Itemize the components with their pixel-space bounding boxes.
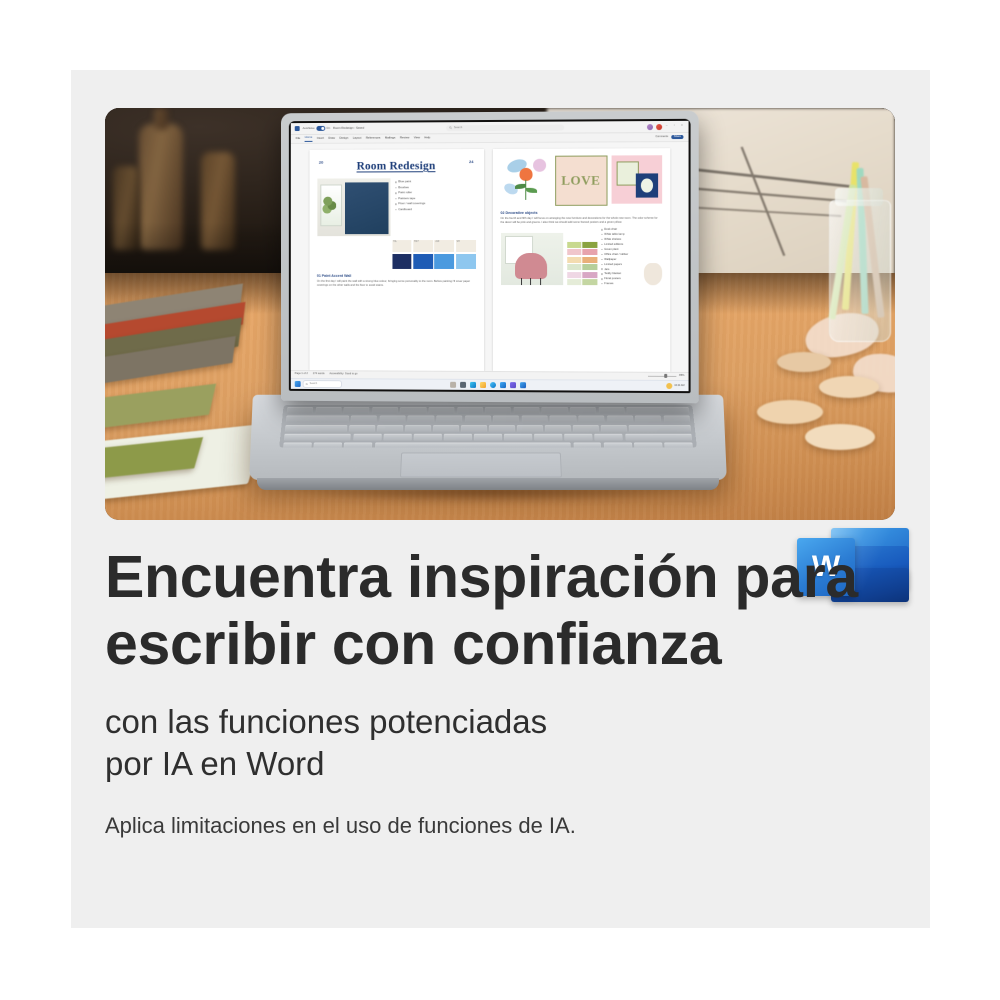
word-search-placeholder: Search	[454, 126, 462, 129]
close-button[interactable]: ×	[679, 124, 684, 129]
autosave-state: On	[326, 127, 330, 130]
vase-shape	[643, 263, 661, 285]
search-icon	[449, 126, 452, 129]
autosave-switch[interactable]	[316, 126, 325, 131]
avatar[interactable]	[647, 124, 653, 130]
disclaimer-text: Aplica limitaciones en el uso de funcion…	[105, 811, 905, 841]
ribbon-tab-review[interactable]: Review	[400, 137, 409, 140]
list-item: Brushes	[398, 186, 409, 189]
windows-start-icon[interactable]	[295, 381, 301, 387]
list-item: Office chair / rubber	[604, 253, 628, 256]
list-item: Wallpaper	[604, 258, 616, 261]
word-count[interactable]: 174 words	[313, 373, 325, 376]
widgets-icon[interactable]	[460, 382, 466, 388]
list-item: Frames	[604, 282, 613, 285]
swatch-color	[456, 254, 476, 269]
ribbon-tab-home[interactable]: Home	[305, 136, 313, 141]
status-bar-right: 85%	[648, 375, 685, 378]
jar-body	[829, 200, 891, 342]
outlook-icon[interactable]	[500, 382, 506, 388]
maximize-button[interactable]: ▫	[672, 124, 677, 129]
laptop-base-edge	[257, 478, 719, 490]
search-icon	[306, 383, 309, 386]
ribbon-tab-mailings[interactable]: Mailings	[385, 137, 396, 140]
love-artwork: LOVE	[555, 155, 607, 205]
chair-photo	[500, 233, 562, 285]
folder-icon[interactable]	[480, 382, 486, 388]
bottle-icon	[113, 166, 139, 250]
text-block: Encuentra inspiración para escribir con …	[105, 544, 905, 841]
list-item: White table lamp	[604, 233, 624, 236]
laptop-trackpad[interactable]	[400, 452, 562, 477]
zoom-level[interactable]: 85%	[679, 375, 684, 378]
photo-scene: AutoSave On Room Redesign - Saved	[105, 108, 895, 520]
ribbon-tab-insert[interactable]: Insert	[317, 137, 324, 140]
ribbon-tab-references[interactable]: References	[366, 137, 381, 140]
word-application: AutoSave On Room Redesign - Saved	[291, 121, 689, 391]
ribbon-tab-help[interactable]: Help	[424, 137, 430, 140]
promo-page: AutoSave On Room Redesign - Saved	[0, 0, 1000, 1000]
comments-button[interactable]: Comments	[655, 136, 668, 139]
paper-circle	[777, 352, 831, 372]
zoom-slider[interactable]	[648, 376, 676, 377]
promo-card: AutoSave On Room Redesign - Saved	[71, 70, 930, 928]
materials-list: Blue paint Brushes Paint roller Painters…	[395, 178, 476, 236]
taskbar-clock[interactable]: 10:24 AM	[674, 385, 684, 388]
list-item: Paint roller	[398, 192, 412, 195]
accessibility-status[interactable]: Accessibility: Good to go	[329, 373, 357, 376]
tulip-artwork	[500, 156, 550, 204]
document-page-right: LOVE 02 Decorative objects On the fourth…	[492, 148, 669, 372]
section-heading-02: 02 Decorative objects	[500, 211, 661, 215]
hero-photo: AutoSave On Room Redesign - Saved	[105, 108, 895, 520]
taskbar-left: Search	[295, 380, 342, 388]
list-item: Green plant	[604, 248, 618, 251]
laptop-screen: AutoSave On Room Redesign - Saved	[289, 119, 691, 393]
edge-browser-icon[interactable]	[470, 382, 476, 388]
accent-wall	[344, 183, 388, 235]
word-search-box[interactable]: Search	[446, 124, 564, 131]
minimize-button[interactable]: –	[664, 124, 669, 129]
ribbon-tab-layout[interactable]: Layout	[353, 137, 362, 140]
avatar[interactable]	[656, 124, 662, 130]
list-item: Painters tape	[398, 197, 415, 200]
room-body: Blue paint Brushes Paint roller Painters…	[317, 178, 476, 236]
taskbar-search-placeholder: Search	[310, 383, 317, 386]
title-bar-right: – ▫ ×	[647, 123, 685, 129]
list-item: Jars	[604, 268, 609, 271]
color-swatches: 70L 55/7 22F 9H	[392, 240, 476, 268]
title-row: 20 Room Redesign 24	[317, 156, 476, 173]
swatch-color	[392, 254, 412, 269]
list-item: Floral posters	[604, 277, 620, 280]
frames-artwork	[611, 155, 662, 203]
year-suffix: 24	[469, 160, 473, 165]
autosave-toggle[interactable]: AutoSave On	[303, 126, 330, 131]
ribbon-tab-draw[interactable]: Draw	[328, 137, 335, 140]
ribbon-tab-file[interactable]: File	[296, 137, 301, 140]
paper-circle	[819, 376, 879, 398]
objects-list: Desk chair White table lamp White shelve…	[601, 228, 639, 285]
store-icon[interactable]	[510, 382, 516, 388]
swatch-label: 55/7	[413, 240, 433, 252]
windows-taskbar: Search	[291, 378, 689, 391]
pencil-jar	[823, 162, 895, 340]
room-photo	[317, 179, 390, 237]
share-button[interactable]: Share	[671, 135, 683, 139]
word-icon[interactable]	[520, 382, 526, 388]
list-item: Blue paint	[398, 181, 411, 184]
laptop-shadow	[245, 488, 731, 510]
document-title: Room Redesign - Saved	[333, 127, 364, 130]
ribbon-right-group: Comments Share	[655, 135, 683, 139]
paper-circle	[757, 400, 823, 424]
love-artwork-label: LOVE	[561, 173, 600, 188]
plant-icon	[322, 193, 336, 215]
ribbon-tab-design[interactable]: Design	[339, 137, 348, 140]
section-heading-01: 01 Paint Accent Wall	[317, 274, 476, 278]
autosave-label: AutoSave	[303, 127, 315, 130]
laptop: AutoSave On Room Redesign - Saved	[279, 112, 697, 510]
palette-swatches	[567, 242, 597, 286]
laptop-lid: AutoSave On Room Redesign - Saved	[281, 111, 699, 404]
paper-circle	[805, 424, 875, 450]
page-indicator[interactable]: Page 1 of 2	[295, 373, 308, 376]
bottle-icon	[139, 124, 183, 250]
swatch-color	[413, 254, 433, 269]
objects-row: Desk chair White table lamp White shelve…	[500, 228, 661, 285]
swatch-label: 22F	[434, 240, 454, 252]
taskbar-search[interactable]: Search	[303, 380, 342, 388]
list-item: Floor / wall coverings	[398, 203, 425, 206]
headline: Encuentra inspiración para escribir con …	[105, 544, 905, 679]
laptop-base	[251, 394, 725, 502]
swatch-color	[434, 254, 454, 269]
file-explorer-icon[interactable]	[450, 382, 456, 388]
list-item: Limited papers	[604, 263, 622, 266]
list-item: Desk chair	[604, 228, 617, 231]
subheadline: con las funciones potenciadas por IA en …	[105, 701, 905, 785]
teams-icon[interactable]	[490, 382, 496, 388]
document-page-left: 20 Room Redesign 24	[309, 149, 483, 371]
list-item: White shelves	[604, 238, 621, 241]
document-canvas[interactable]: 20 Room Redesign 24	[291, 142, 689, 372]
ribbon-tab-view[interactable]: View	[414, 137, 420, 140]
word-icon	[295, 126, 300, 131]
bottle-icon	[201, 152, 235, 250]
laptop-keyboard[interactable]	[279, 405, 697, 447]
swatch-label: 9H	[456, 240, 476, 252]
doc-title: Room Redesign	[323, 160, 469, 173]
list-item: Cardboard	[398, 208, 412, 211]
section-paragraph-02: On the fourth and fifth day I will focus…	[500, 217, 661, 225]
list-item: Teddy blanket	[604, 272, 621, 275]
artwork-row: LOVE	[500, 155, 661, 206]
taskbar-right: 10:24 AM	[666, 383, 684, 389]
weather-icon[interactable]	[666, 383, 672, 389]
section-paragraph-01: On the first day I will paint the wall w…	[317, 280, 476, 287]
swatch-label: 70L	[392, 240, 412, 252]
list-item: Limited editions	[604, 243, 623, 246]
laptop-palmrest	[249, 395, 727, 480]
